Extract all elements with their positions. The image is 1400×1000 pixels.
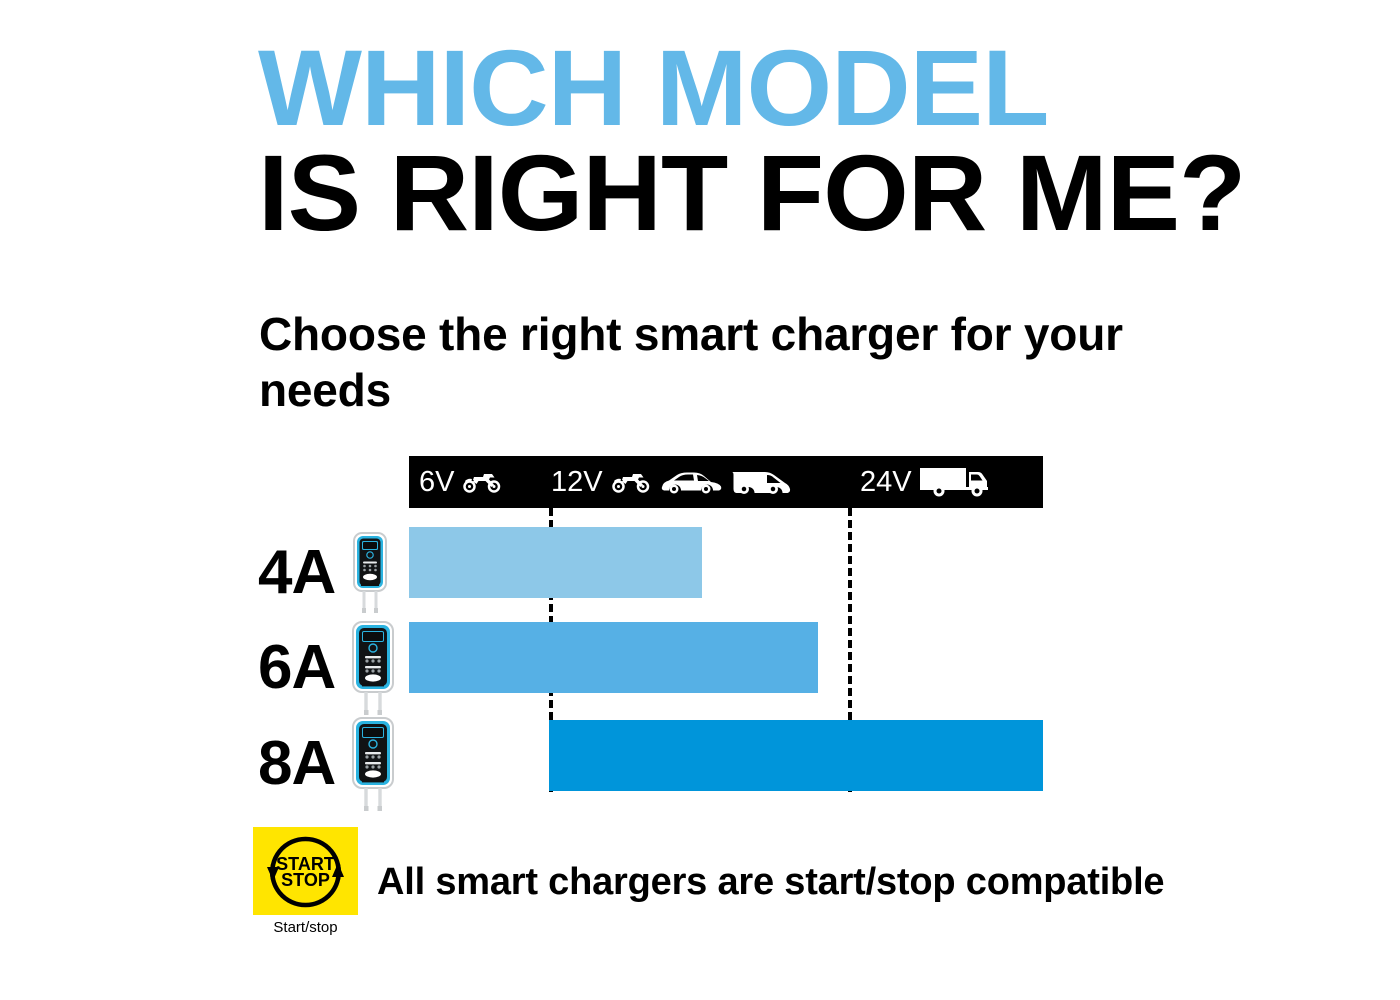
bar-6a <box>409 622 818 693</box>
voltage-group-6v: 6V <box>419 456 503 508</box>
voltage-group-12v: 12V <box>551 456 792 508</box>
start-stop-caption: Start/stop <box>253 915 358 939</box>
van-icon <box>730 467 792 497</box>
truck-icon <box>919 465 991 499</box>
page-title: WHICH MODEL IS RIGHT FOR ME? <box>258 38 1358 243</box>
row-label-8a: 8A <box>258 716 403 812</box>
amp-label-6a: 6A <box>258 637 335 699</box>
smart-charger-icon <box>343 716 403 812</box>
voltage-coverage-chart: 6V 12V <box>409 456 1043 792</box>
amp-label-8a: 8A <box>258 733 335 795</box>
title-line-1: WHICH MODEL <box>258 38 1380 137</box>
voltage-label-12v: 12V <box>551 468 603 497</box>
bar-8a <box>549 720 1043 791</box>
row-label-4a: 4A <box>258 531 397 615</box>
voltage-label-6v: 6V <box>419 468 454 497</box>
smart-charger-icon <box>343 620 403 716</box>
motorcycle-icon <box>461 470 503 494</box>
subtitle: Choose the right smart charger for your … <box>259 306 1159 418</box>
start-stop-symbol: START STOP <box>253 827 358 915</box>
start-stop-badge: START STOP Start/stop <box>253 827 358 939</box>
title-line-2: IS RIGHT FOR ME? <box>258 143 1380 242</box>
footnote: All smart chargers are start/stop compat… <box>377 861 1164 904</box>
car-icon <box>659 469 723 495</box>
motorcycle-icon <box>610 470 652 494</box>
stop-text: STOP <box>281 870 330 890</box>
row-label-6a: 6A <box>258 620 403 716</box>
voltage-group-24v: 24V <box>860 456 991 508</box>
amp-label-4a: 4A <box>258 542 335 604</box>
smart-charger-icon <box>343 531 397 615</box>
chart-header-bar: 6V 12V <box>409 456 1043 508</box>
cycle-arrows-icon: START STOP <box>253 827 358 915</box>
bar-4a <box>409 527 702 598</box>
voltage-label-24v: 24V <box>860 468 912 497</box>
